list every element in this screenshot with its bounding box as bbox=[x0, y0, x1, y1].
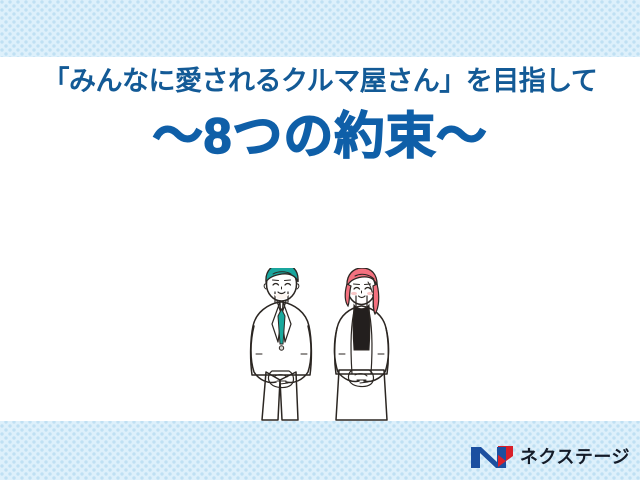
female-staff-figure bbox=[334, 268, 388, 420]
staff-illustration-svg: .ln { fill:none; stroke:#2b2622; stroke-… bbox=[228, 268, 418, 421]
headline-subtitle: 「みんなに愛されるクルマ屋さん」を目指して bbox=[0, 66, 640, 97]
brand-logo[interactable]: ネクステージ bbox=[468, 442, 632, 472]
promotional-banner: 「みんなに愛されるクルマ屋さん」を目指して 〜8つの約束〜 .ln { fill… bbox=[0, 0, 640, 480]
staff-illustration: .ln { fill:none; stroke:#2b2622; stroke-… bbox=[228, 268, 418, 421]
nextage-n-mark-icon bbox=[470, 444, 514, 470]
headline-block: 「みんなに愛されるクルマ屋さん」を目指して 〜8つの約束〜 bbox=[0, 0, 640, 164]
headline-title: 〜8つの約束〜 bbox=[0, 109, 640, 164]
male-staff-figure bbox=[251, 268, 312, 420]
brand-wordmark: ネクステージ bbox=[520, 448, 630, 466]
